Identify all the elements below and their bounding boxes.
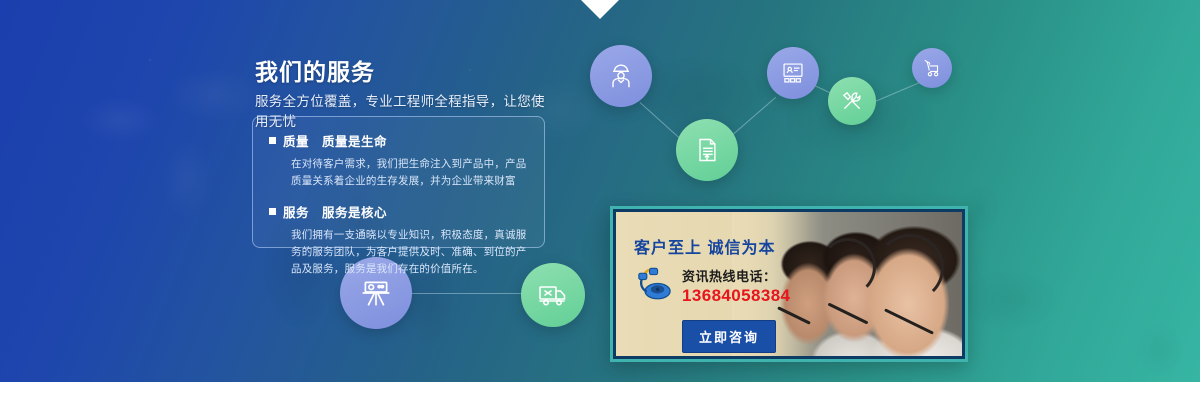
card-slogan: 客户至上 诚信为本 — [634, 234, 844, 258]
node-edge — [408, 293, 524, 294]
features-box: 质量 质量是生命 在对待客户需求，我们把生命注入到产品中，产品质量关系着企业的生… — [252, 116, 545, 248]
feature-body: 我们拥有一支通晓以专业知识，积极态度，真诚服务的服务团队，为客户提供及时、准确、… — [291, 227, 528, 278]
feature-heading: 服务 服务是核心 — [269, 202, 528, 221]
feature-tag: 质量 — [283, 131, 309, 150]
presentation-board-icon — [780, 60, 806, 86]
feature-heading: 质量 质量是生命 — [269, 131, 528, 150]
feature-block-service: 服务 服务是核心 我们拥有一支通晓以专业知识，积极态度，真诚服务的服务团队，为客… — [269, 202, 528, 278]
feature-title: 服务是核心 — [322, 202, 387, 221]
consult-now-button[interactable]: 立即咨询 — [682, 320, 776, 353]
hotline-lines: 资讯热线电话： 13684058384 — [682, 266, 790, 306]
node-engineer[interactable] — [590, 45, 652, 107]
page-title: 我们的服务 — [255, 58, 555, 86]
hotline-number: 13684058384 — [682, 286, 790, 306]
square-bullet-icon — [269, 208, 276, 215]
tools-wrench-icon — [839, 88, 865, 114]
hotline-row: 资讯热线电话： 13684058384 — [634, 266, 844, 306]
node-document[interactable] — [676, 119, 738, 181]
feature-block-quality: 质量 质量是生命 在对待客户需求，我们把生命注入到产品中，产品质量关系着企业的生… — [269, 131, 528, 190]
engineer-helmet-icon — [606, 61, 636, 91]
feature-body: 在对待客户需求，我们把生命注入到产品中，产品质量关系着企业的生存发展，并为企业带… — [291, 156, 528, 190]
camera-tripod-icon — [359, 276, 393, 310]
headset-band-icon — [876, 234, 944, 302]
square-bullet-icon — [269, 137, 276, 144]
headset-mic-icon — [884, 308, 934, 334]
delivery-truck-icon — [537, 279, 569, 311]
node-training[interactable] — [767, 47, 819, 99]
feature-tag: 服务 — [283, 202, 309, 221]
node-maintenance[interactable] — [828, 77, 876, 125]
banner-background: 我们的服务 服务全方位覆盖，专业工程师全程指导，让您使用无忧 质量 质量是生命 … — [0, 0, 1200, 382]
hotline-label: 资讯热线电话： — [682, 266, 790, 285]
contact-card[interactable]: 客户至上 诚信为本 — [610, 206, 968, 362]
contact-card-text: 客户至上 诚信为本 — [634, 234, 844, 353]
telephone-icon — [634, 267, 674, 306]
feature-title: 质量是生命 — [322, 131, 387, 150]
service-banner-page: 我们的服务 服务全方位覆盖，专业工程师全程指导，让您使用无忧 质量 质量是生命 … — [0, 0, 1200, 400]
node-shipping[interactable] — [521, 263, 585, 327]
hand-truck-icon — [921, 57, 943, 79]
node-delivery-hand[interactable] — [912, 48, 952, 88]
contact-card-inner: 客户至上 诚信为本 — [616, 212, 962, 356]
document-upload-icon — [693, 136, 721, 164]
